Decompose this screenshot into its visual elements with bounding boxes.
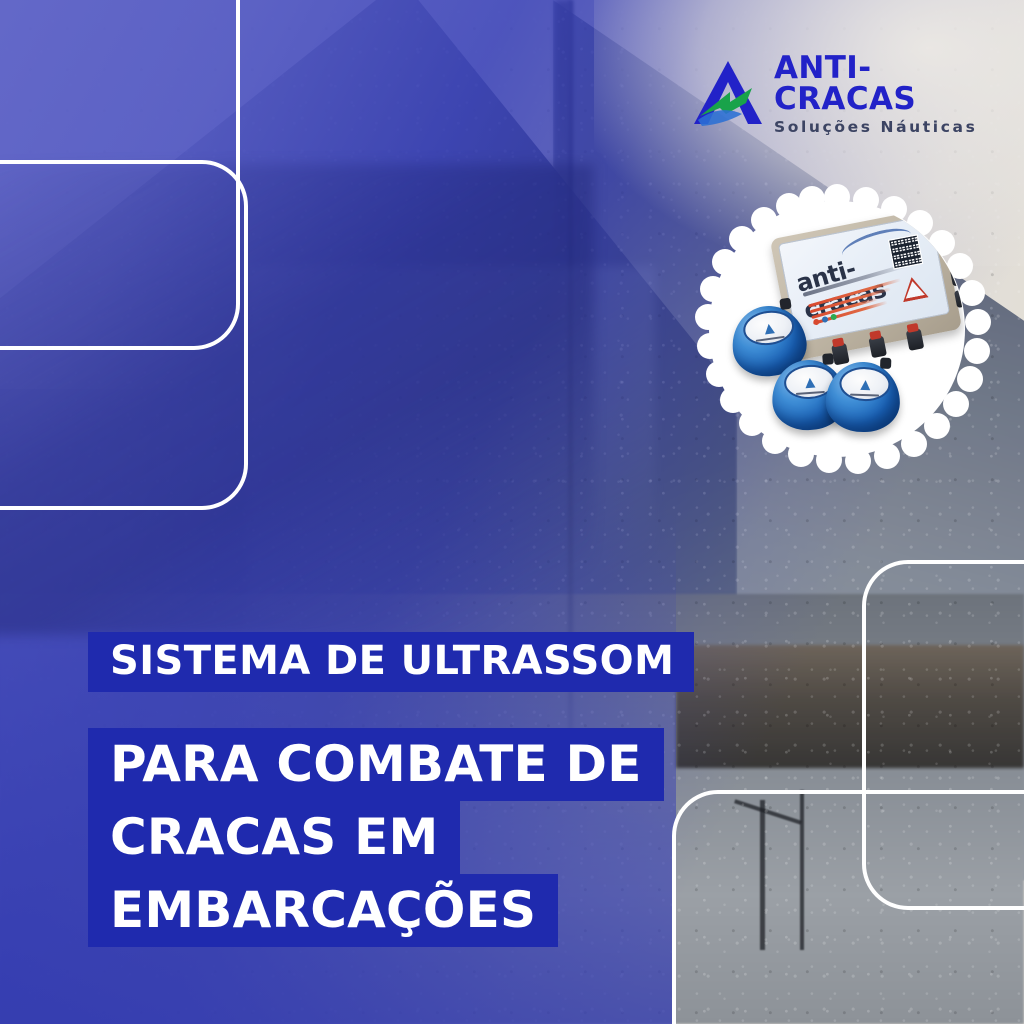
frame-top-left-outer: [0, 160, 248, 510]
logo-wordmark: ANTI-CRACAS Soluções Náuticas: [774, 53, 1002, 136]
frame-bottom-right-inner: [672, 790, 1024, 1024]
brand-logo[interactable]: ANTI-CRACAS Soluções Náuticas: [690, 52, 1002, 136]
poster-canvas: ANTI-CRACAS Soluções Náuticas: [0, 0, 1024, 1024]
transducer-cable-nub: [880, 358, 891, 369]
product-photo-area: anti-cracas: [710, 202, 964, 456]
headline-block: PARA COMBATE DE CRACAS EM EMBARCAÇÕES: [88, 728, 664, 947]
anti-cracas-logo-mark-icon: [690, 58, 766, 130]
headline-kicker: SISTEMA DE ULTRASSOM: [88, 632, 694, 692]
transducer-cable-nub: [779, 298, 791, 310]
ultrasonic-transducer: [825, 361, 901, 434]
headline-line-3: EMBARCAÇÕES: [88, 874, 558, 947]
logo-title: ANTI-CRACAS: [774, 53, 1002, 115]
headline-line-2: CRACAS EM: [88, 801, 460, 874]
side-connector: [950, 267, 964, 286]
headline-line-1: PARA COMBATE DE: [88, 728, 664, 801]
product-badge[interactable]: anti-cracas: [676, 168, 998, 490]
logo-tagline: Soluções Náuticas: [774, 120, 1002, 136]
qr-code-icon: [888, 234, 923, 269]
